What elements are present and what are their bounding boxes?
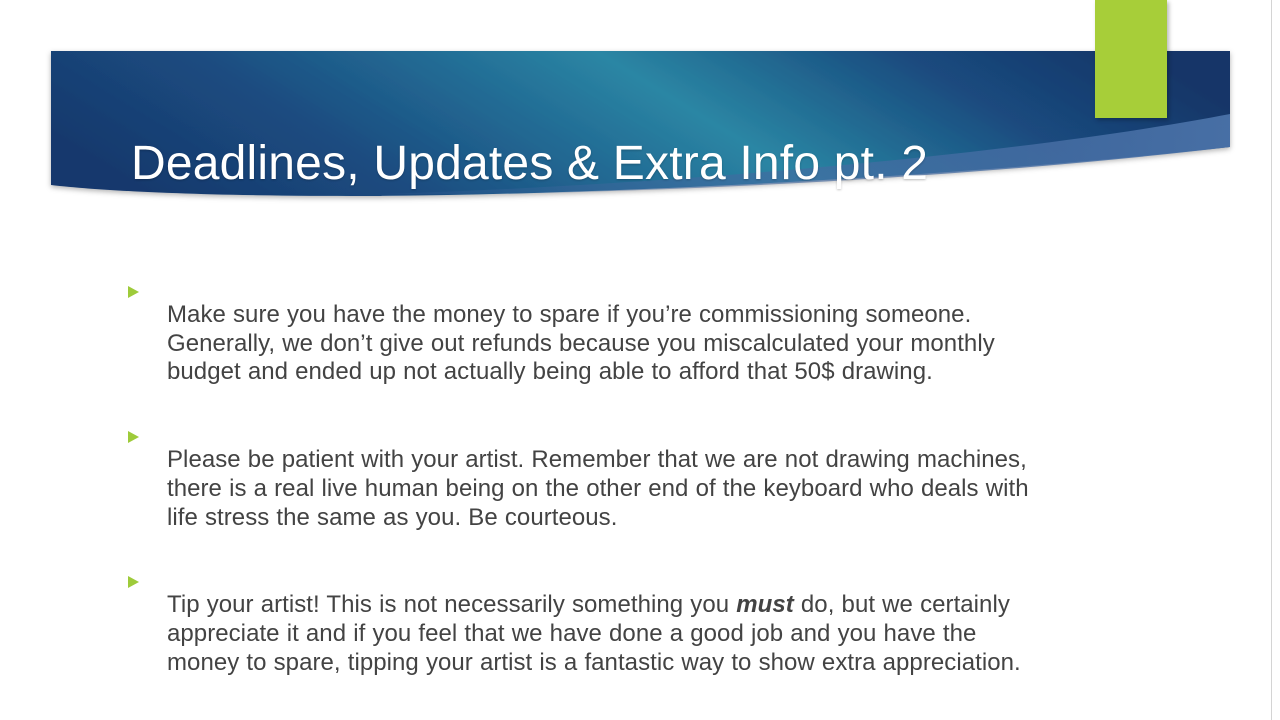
list-item-text: Tip your artist! This is not necessarily…	[167, 591, 1053, 677]
triangle-bullet-icon	[128, 422, 140, 451]
list-item-text-emphasis: must	[736, 591, 794, 618]
green-accent-block	[1095, 0, 1167, 118]
list-item: Please be patient with your artist. Reme…	[128, 422, 1053, 556]
list-item-text: Please be patient with your artist. Reme…	[167, 446, 1053, 532]
list-item: Make sure you have the money to spare if…	[128, 277, 1053, 411]
slide-edge-rule	[1271, 0, 1272, 720]
list-item-text-before: Tip your artist! This is not necessarily…	[167, 591, 736, 618]
slide-canvas: Deadlines, Updates & Extra Info pt. 2 Ma…	[0, 0, 1280, 720]
list-item-text: Make sure you have the money to spare if…	[167, 301, 1053, 387]
bullet-list: Make sure you have the money to spare if…	[128, 277, 1053, 701]
triangle-bullet-icon	[128, 567, 140, 596]
triangle-bullet-icon	[128, 277, 140, 306]
list-item: Tip your artist! This is not necessarily…	[128, 567, 1053, 701]
page-title: Deadlines, Updates & Extra Info pt. 2	[131, 136, 1081, 192]
